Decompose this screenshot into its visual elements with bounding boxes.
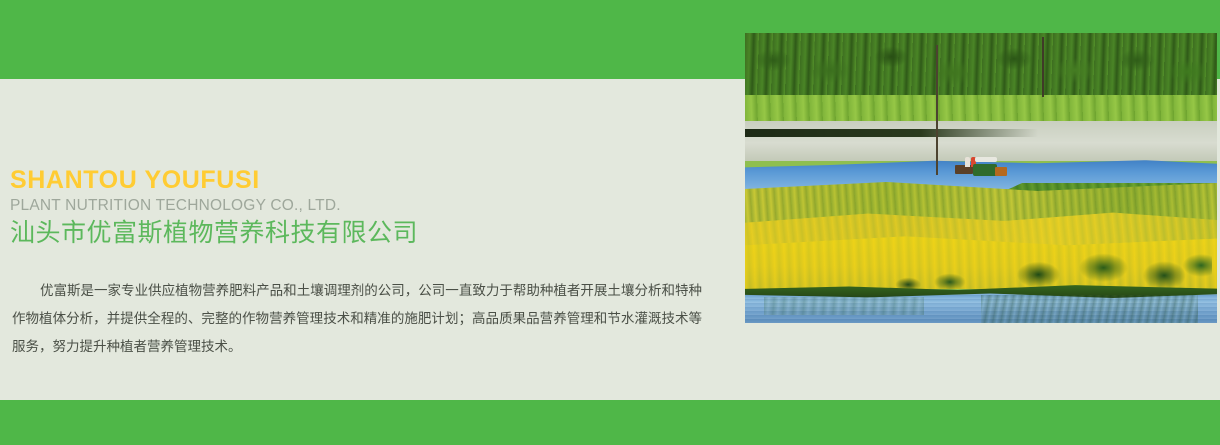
harvester-canopy xyxy=(975,157,997,162)
page-root: SHANTOU YOUFUSI PLANT NUTRITION TECHNOLO… xyxy=(0,0,1220,445)
company-name-english: SHANTOU YOUFUSI xyxy=(10,165,710,195)
photo-water-reflection-right xyxy=(981,295,1198,323)
photo-treeline xyxy=(745,33,1217,101)
harvester-body xyxy=(973,164,997,176)
company-intro-paragraph: 优富斯是一家专业供应植物营养肥料产品和土壤调理剂的公司，公司一直致力于帮助种植者… xyxy=(12,277,702,361)
hero-photo-frame xyxy=(745,33,1217,323)
photo-utility-pole xyxy=(936,45,938,175)
footer-green-band xyxy=(0,400,1220,445)
company-profile-section: SHANTOU YOUFUSI PLANT NUTRITION TECHNOLO… xyxy=(0,79,740,400)
photo-water-reflection-left xyxy=(764,297,924,315)
rice-paddy-photo xyxy=(745,33,1217,323)
company-name-chinese: 汕头市优富斯植物营养科技有限公司 xyxy=(10,216,710,250)
photo-utility-pole-far xyxy=(1042,37,1044,97)
harvester-bin xyxy=(995,167,1007,176)
photo-road-shadow xyxy=(745,129,1038,137)
brand-block: SHANTOU YOUFUSI PLANT NUTRITION TECHNOLO… xyxy=(10,165,710,250)
farmer-figure-white xyxy=(965,157,970,167)
photo-harvester xyxy=(955,153,1007,179)
company-subtitle-english: PLANT NUTRITION TECHNOLOGY CO., LTD. xyxy=(10,195,710,216)
